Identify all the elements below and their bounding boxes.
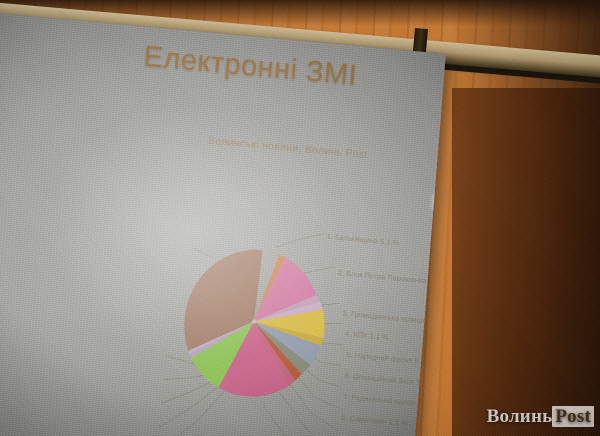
watermark-prefix: Волинь bbox=[487, 406, 553, 427]
photograph-of-projected-slide: Електронні ЗМІ Волинські новини, Волинь … bbox=[0, 0, 600, 436]
projection-screen: Електронні ЗМІ Волинські новини, Волинь … bbox=[0, 8, 446, 436]
watermark: ВолиньPost bbox=[487, 406, 594, 428]
watermark-suffix: Post bbox=[552, 406, 594, 427]
screen-vignette bbox=[0, 8, 446, 436]
